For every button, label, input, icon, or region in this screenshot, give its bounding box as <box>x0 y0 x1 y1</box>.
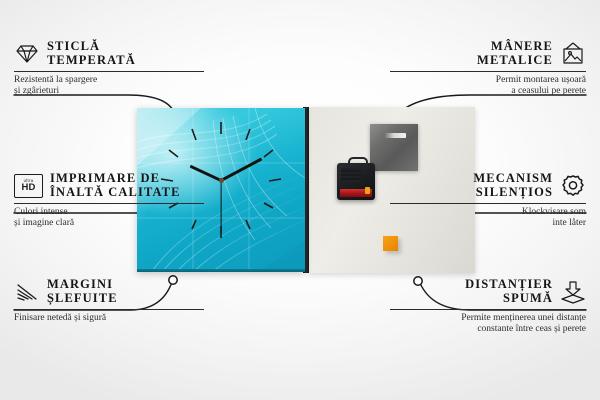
second-hand <box>220 181 221 233</box>
polished-edges-icon <box>14 280 40 304</box>
callout-title: MARGINI ȘLEFUITE <box>47 278 118 305</box>
callout-subtitle: Permite menținerea unei distanțe constan… <box>390 313 586 335</box>
callout-title: MÂNERE METALICE <box>477 40 553 67</box>
hanger-loop <box>348 157 368 167</box>
callout-tempered-glass: STICLĂ TEMPERATĂ Rezistentă la spargere … <box>14 40 204 97</box>
clock-movement-box <box>337 163 375 200</box>
divider <box>390 203 586 204</box>
callout-title: STICLĂ TEMPERATĂ <box>47 40 136 67</box>
hanger-slot <box>384 133 406 138</box>
infographic-canvas: STICLĂ TEMPERATĂ Rezistentă la spargere … <box>0 0 600 400</box>
battery-terminal <box>365 187 370 194</box>
callout-subtitle: Finisare netedă și sigură <box>14 313 204 324</box>
callout-title: IMPRIMARE DE ÎNALTĂ CALITATE <box>50 172 181 199</box>
foam-spacer <box>383 236 398 251</box>
ultra-hd-badge-icon: ultra HD <box>14 174 43 198</box>
callout-subtitle: Rezistentă la spargere și zgârieturi <box>14 75 204 97</box>
callout-hd-print: ultra HD IMPRIMARE DE ÎNALTĂ CALITATE Cu… <box>14 172 204 229</box>
badge-hd-label: HD <box>21 183 35 193</box>
divider <box>14 309 204 310</box>
divider <box>14 71 204 72</box>
clock-center-cap <box>219 178 224 183</box>
callout-subtitle: Culori intense și imagine clară <box>14 207 204 229</box>
picture-hanger-icon <box>560 42 586 66</box>
metal-hanger-plate <box>370 124 418 171</box>
callout-subtitle: Klockvisare som inte låter <box>390 207 586 229</box>
panel-bottom-edge <box>137 269 305 272</box>
callout-title: MECANISM SILENȚIOS <box>473 172 553 199</box>
divider <box>390 71 586 72</box>
callout-subtitle: Permit montarea ușoară a ceasului pe per… <box>390 75 586 97</box>
diamond-icon <box>14 42 40 66</box>
gear-icon <box>560 174 586 198</box>
divider <box>14 203 204 204</box>
callout-title: DISTANȚIER SPUMĂ <box>465 278 553 305</box>
callout-silent-mechanism: MECANISM SILENȚIOS Klockvisare som inte … <box>390 172 586 229</box>
callout-foam-spacer: DISTANȚIER SPUMĂ Permite menținerea unei… <box>390 278 586 335</box>
foam-spacer-arrow-icon <box>560 280 586 304</box>
battery <box>340 189 372 197</box>
callout-polished-edges: MARGINI ȘLEFUITE Finisare netedă și sigu… <box>14 278 204 324</box>
divider <box>390 309 586 310</box>
movement-grill <box>341 168 361 182</box>
callout-metal-handles: MÂNERE METALICE Permit montarea ușoară a… <box>390 40 586 97</box>
